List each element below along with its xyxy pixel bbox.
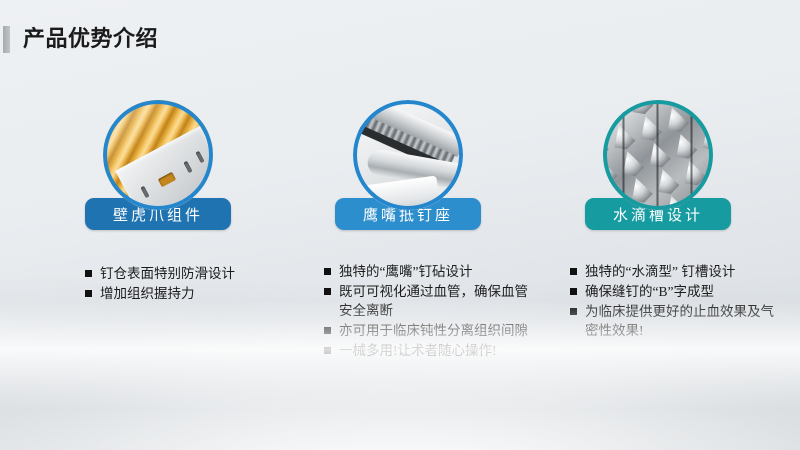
square-bullet-icon [324, 347, 331, 354]
drop-seam-lines [603, 100, 713, 210]
feature-card-2: 鹰嘴抵钉座 [308, 100, 508, 230]
list-item: 一械多用!让术者随心操作! [324, 341, 534, 360]
feature-image-2 [353, 100, 463, 210]
feature-card-1: 壁虎爪组件 [58, 100, 258, 230]
list-item: 独特的“水滴型” 钉槽设计 [570, 262, 775, 281]
feature-image-1 [103, 100, 213, 210]
square-bullet-icon [570, 288, 577, 295]
list-item: 钉仓表面特别防滑设计 [85, 264, 275, 283]
list-item: 亦可用于临床钝性分离组织间隙 [324, 321, 534, 340]
eagle-beak-anvil-photo [353, 100, 463, 210]
list-item: 为临床提供更好的止血效果及气密性效果! [570, 302, 775, 340]
list-item: 独特的“鹰嘴”钉砧设计 [324, 262, 534, 281]
bullet-list-3: 独特的“水滴型” 钉槽设计 确保缝钉的“B”字成型 为临床提供更好的止血效果及气… [570, 262, 775, 341]
water-drop-pocket-photo [603, 100, 713, 210]
square-bullet-icon [324, 288, 331, 295]
cartridge-rail [115, 126, 213, 210]
square-bullet-icon [85, 290, 92, 297]
list-item: 既可可视化通过血管，确保血管安全离断 [324, 282, 534, 320]
slide-canvas: 产品优势介绍 壁虎爪组件 鹰嘴抵钉座 [0, 0, 800, 450]
feature-image-3 [603, 100, 713, 210]
square-bullet-icon [324, 268, 331, 275]
feature-card-3: 水滴槽设计 [558, 100, 758, 230]
gecko-claw-cartridge-photo [103, 100, 213, 210]
bullet-list-2: 独特的“鹰嘴”钉砧设计 既可可视化通过血管，确保血管安全离断 亦可用于临床钝性分… [324, 262, 534, 361]
square-bullet-icon [85, 270, 92, 277]
title-accent-bar [3, 26, 10, 53]
page-title: 产品优势介绍 [0, 24, 158, 54]
square-bullet-icon [570, 308, 577, 315]
list-item: 增加组织握持力 [85, 284, 275, 303]
square-bullet-icon [324, 327, 331, 334]
bullet-list-1: 钉仓表面特别防滑设计 增加组织握持力 [85, 264, 275, 304]
anvil-tip [353, 175, 441, 210]
square-bullet-icon [570, 268, 577, 275]
list-item: 确保缝钉的“B”字成型 [570, 282, 775, 301]
page-title-text: 产品优势介绍 [23, 28, 158, 50]
